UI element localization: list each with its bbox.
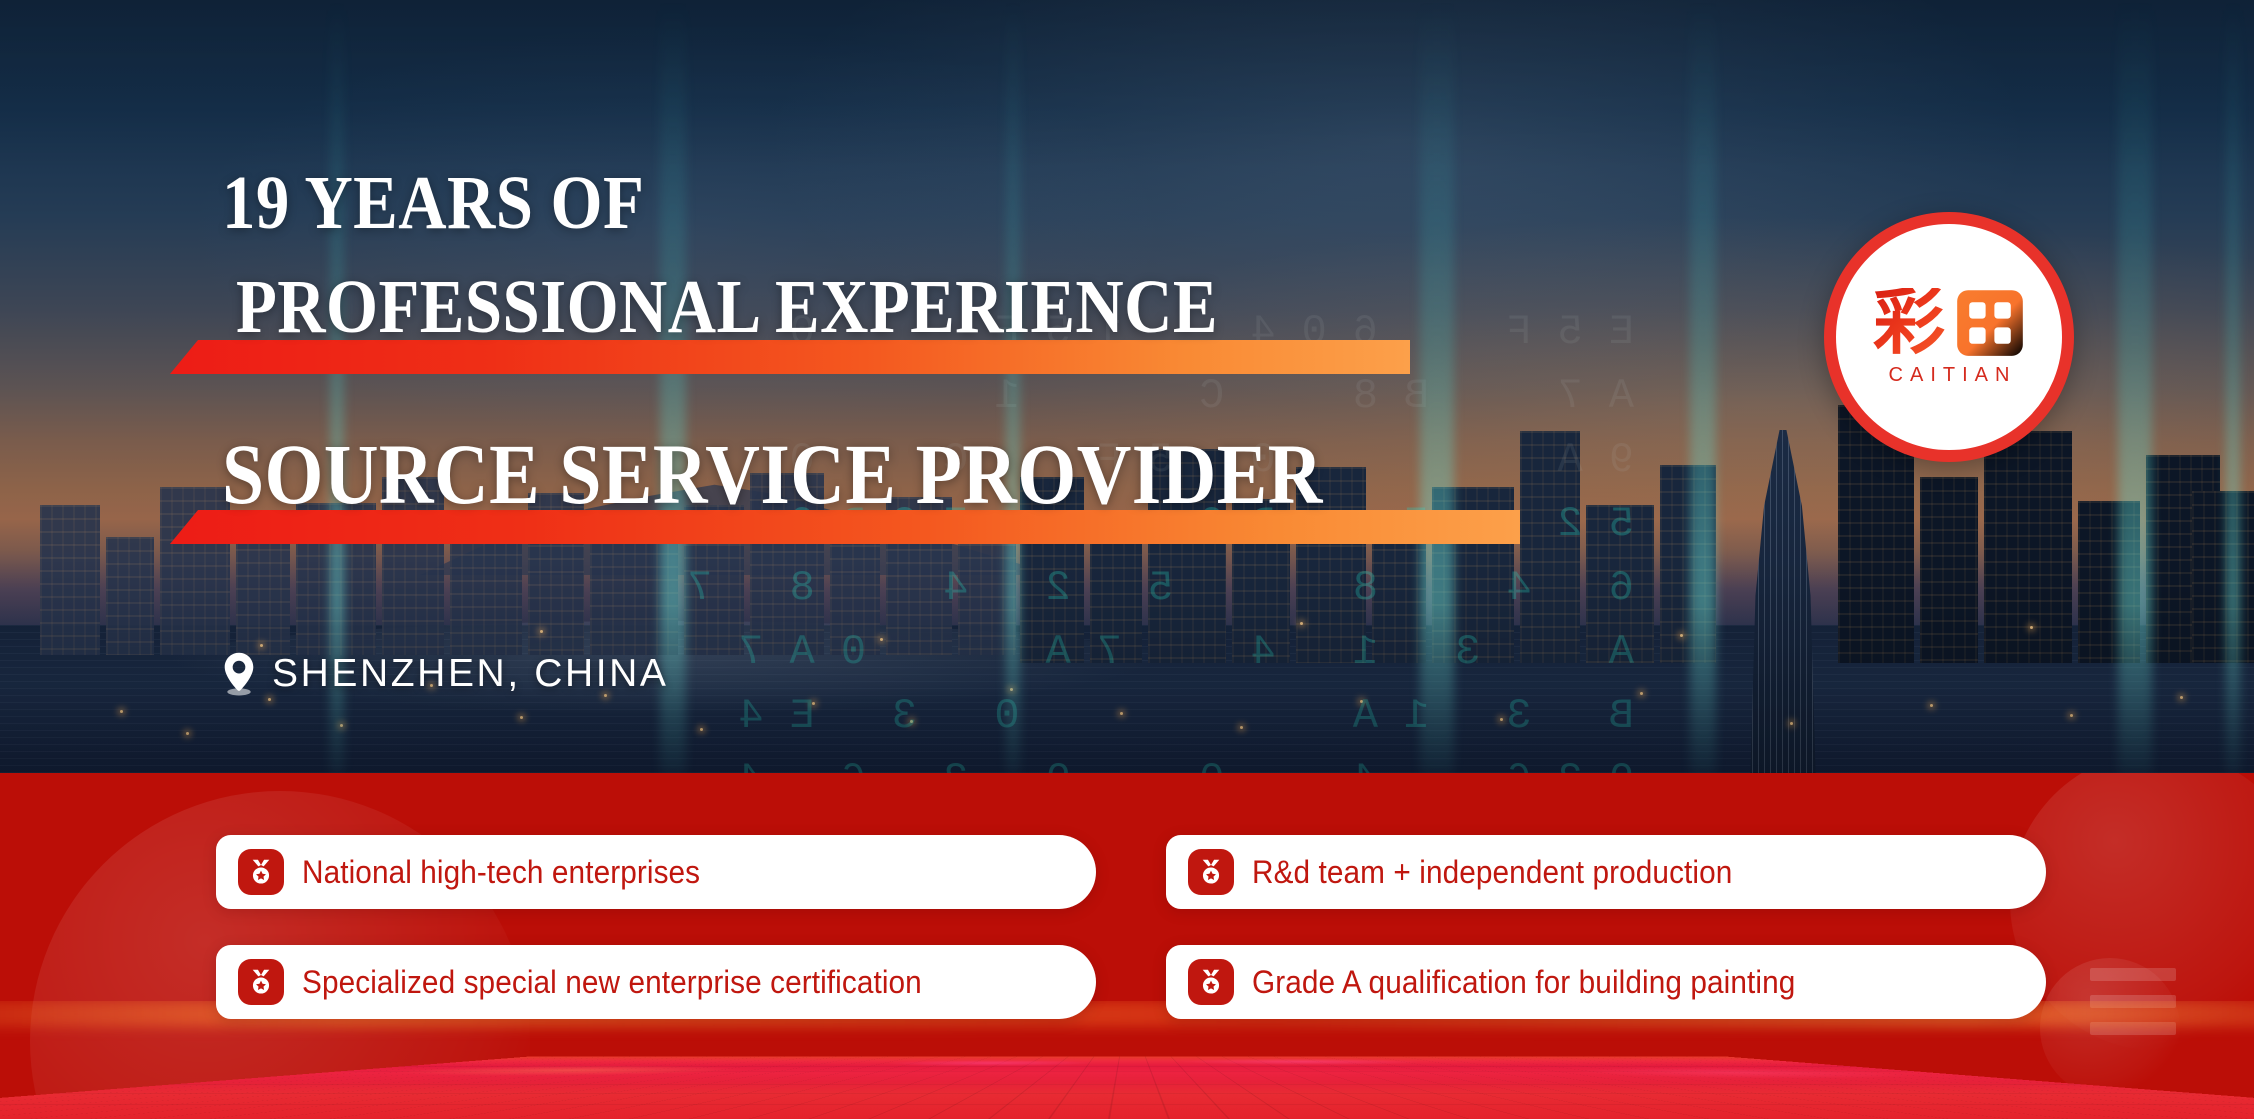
skyline: [0, 415, 2254, 775]
feature-pill[interactable]: Specialized special new enterprise certi…: [216, 945, 1096, 1019]
location-row: SHENZHEN, CHINA: [222, 652, 669, 696]
code-row: A7 B8 C 1: [968, 372, 1634, 420]
logo-wordmark: CAITIAN: [1882, 364, 2017, 387]
code-row: E5F 604 15E 0: [764, 308, 1634, 356]
feature-pill[interactable]: Grade A qualification for building paint…: [1166, 945, 2046, 1019]
feature-pill[interactable]: National high-tech enterprises: [216, 835, 1096, 909]
logo-char-cai: 彩: [1873, 288, 1945, 356]
medal-icon: [247, 858, 275, 886]
logo-char-tian-icon: [1955, 288, 2025, 358]
feature-pill[interactable]: R&d team + independent production: [1166, 835, 2046, 909]
medal-icon: [1197, 968, 1225, 996]
location-pin-icon: [222, 652, 256, 696]
caitian-logo: 彩 CAITIAN: [1824, 212, 2074, 462]
feature-pill-label: R&d team + independent production: [1252, 854, 1732, 891]
feature-pill-label: Specialized special new enterprise certi…: [302, 964, 922, 1001]
medal-icon: [1197, 858, 1225, 886]
feature-pill-label: National high-tech enterprises: [302, 854, 700, 891]
feature-pill-group: National high-tech enterprises Specializ…: [0, 773, 2254, 1119]
promo-banner: E5F 604 15E 0 A7 B8 C 1 9A 0 5F C 0 52 F…: [0, 0, 2254, 1119]
logo-glyphs: 彩: [1873, 288, 2025, 358]
pill-badge: [1188, 959, 1234, 1005]
pill-badge: [238, 849, 284, 895]
pill-badge: [238, 959, 284, 1005]
city-lights: [0, 525, 2254, 775]
location-text: SHENZHEN, CHINA: [272, 652, 669, 696]
pill-badge: [1188, 849, 1234, 895]
medal-icon: [247, 968, 275, 996]
feature-pill-label: Grade A qualification for building paint…: [1252, 964, 1795, 1001]
